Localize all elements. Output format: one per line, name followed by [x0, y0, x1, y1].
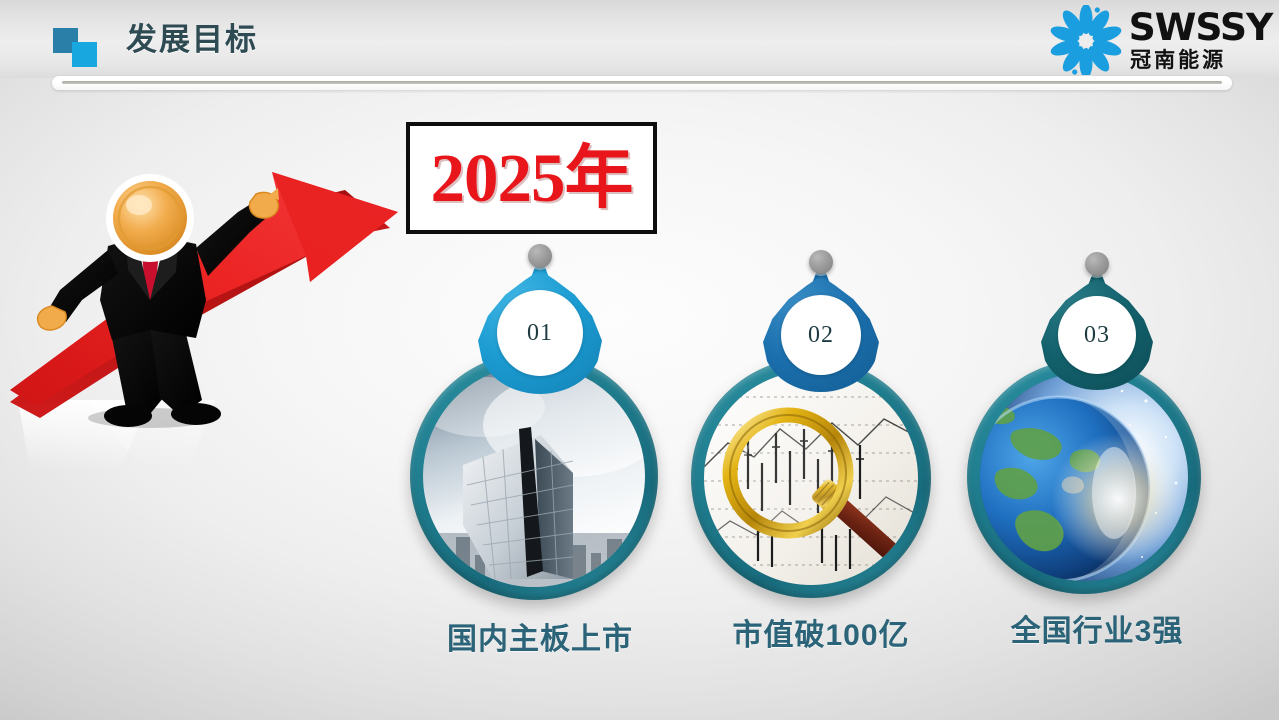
slide-header: 发展目标	[0, 0, 1279, 78]
logo-wordmark: SWSSY	[1129, 9, 1273, 46]
company-logo: SWSSY 冠南能源	[1048, 4, 1271, 76]
badge-circle-01: 01	[497, 290, 583, 376]
logo-chinese-name: 冠南能源	[1130, 50, 1226, 71]
goal-badge-02: 02	[763, 276, 879, 402]
badge-number-03: 03	[1084, 322, 1110, 349]
header-separator-bar	[52, 76, 1232, 90]
logo-text-block: SWSSY 冠南能源	[1130, 9, 1271, 71]
decor-square-light-icon	[72, 42, 97, 67]
slide-canvas: 发展目标	[0, 0, 1279, 720]
goal-image-02	[704, 371, 918, 585]
badge-number-01: 01	[527, 320, 553, 347]
badge-number-02: 02	[808, 322, 834, 349]
year-callout-text: 2025年	[431, 144, 633, 213]
goal-caption-01: 国内主板上市	[447, 614, 633, 658]
year-callout-box: 2025年	[406, 122, 657, 234]
page-title: 发展目标	[126, 20, 258, 60]
goal-caption-02: 市值破100亿	[732, 610, 909, 654]
goal-badge-03: 03	[1041, 278, 1153, 400]
pin-head-icon-01	[528, 244, 552, 268]
goal-caption-03: 全国行业3强	[1011, 606, 1184, 650]
goal-image-03	[980, 373, 1188, 581]
goal-badge-01: 01	[478, 270, 602, 404]
badge-circle-03: 03	[1058, 296, 1136, 374]
flower-droplets-logo-icon	[1048, 5, 1124, 75]
pin-head-icon-02	[809, 250, 833, 274]
businessman-on-rising-arrow-illustration	[0, 150, 420, 510]
badge-circle-02: 02	[781, 295, 861, 375]
pin-head-icon-03	[1085, 252, 1109, 276]
